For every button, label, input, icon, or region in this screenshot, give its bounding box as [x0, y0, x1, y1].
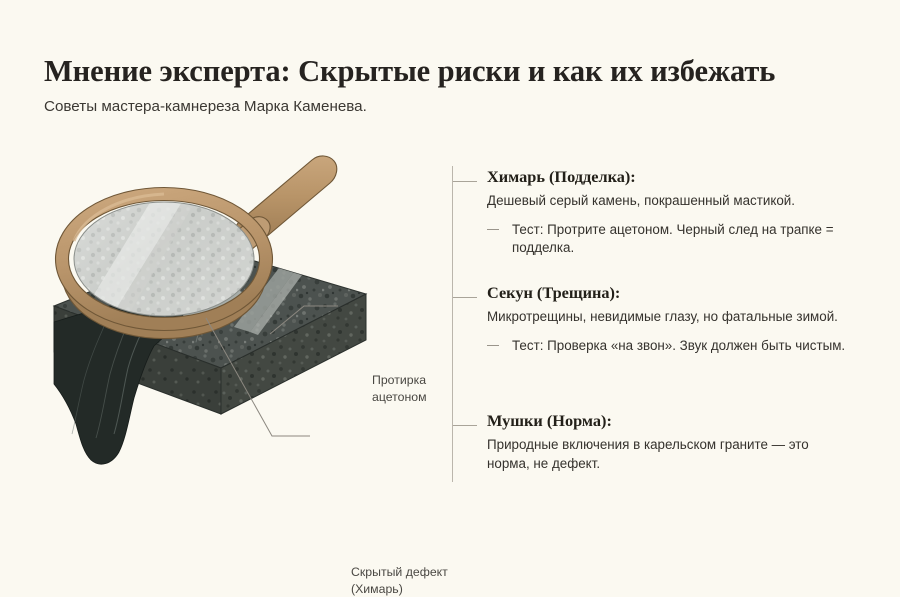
tip-item-mushki: Мушки (Норма): Природные включения в кар… [452, 410, 872, 473]
tip-heading: Химарь (Подделка): [487, 166, 872, 187]
tip-subitem-text: Тест: Проверка «на звон». Звук должен бы… [512, 338, 845, 353]
tip-subitem-dash-icon [487, 345, 499, 346]
tip-subitem: Тест: Проверка «на звон». Звук должен бы… [487, 337, 862, 356]
illustration-svg [36, 146, 446, 486]
header: Мнение эксперта: Скрытые риски и как их … [44, 54, 864, 117]
callout-acetone-line-2: ацетоном [372, 389, 427, 406]
slide-root: Мнение эксперта: Скрытые риски и как их … [0, 0, 900, 502]
illustration-magnifier-granite: Протирка ацетоном Скрытый дефект (Химарь… [36, 146, 446, 486]
page-title: Мнение эксперта: Скрытые риски и как их … [44, 54, 864, 88]
tip-heading: Мушки (Норма): [487, 410, 872, 431]
tip-tick-icon [453, 425, 477, 426]
callout-defect-line-1: Скрытый дефект [351, 564, 448, 581]
tip-subitem: Тест: Протрите ацетоном. Черный след на … [487, 221, 862, 258]
tip-description: Природные включения в карельском граните… [487, 436, 845, 473]
callout-defect-line-2: (Химарь) [351, 581, 448, 597]
callout-acetone-line-1: Протирка [372, 372, 427, 389]
tip-heading: Секун (Трещина): [487, 282, 872, 303]
tip-tick-icon [453, 297, 477, 298]
tip-tick-icon [453, 181, 477, 182]
tip-subitem-dash-icon [487, 229, 499, 230]
tips-panel: Химарь (Подделка): Дешевый серый камень,… [452, 166, 872, 482]
tip-item-himar: Химарь (Подделка): Дешевый серый камень,… [452, 166, 872, 258]
tip-item-sekun: Секун (Трещина): Микротрещины, невидимые… [452, 282, 872, 355]
callout-acetone-label: Протирка ацетоном [372, 372, 427, 405]
tip-subitem-text: Тест: Протрите ацетоном. Черный след на … [512, 222, 834, 256]
page-subtitle: Советы мастера-камнереза Марка Каменева. [44, 97, 864, 117]
tip-description: Микротрещины, невидимые глазу, но фаталь… [487, 308, 839, 327]
tip-description: Дешевый серый камень, покрашенный мастик… [487, 192, 859, 211]
callout-hidden-defect-label: Скрытый дефект (Химарь) [351, 564, 448, 597]
